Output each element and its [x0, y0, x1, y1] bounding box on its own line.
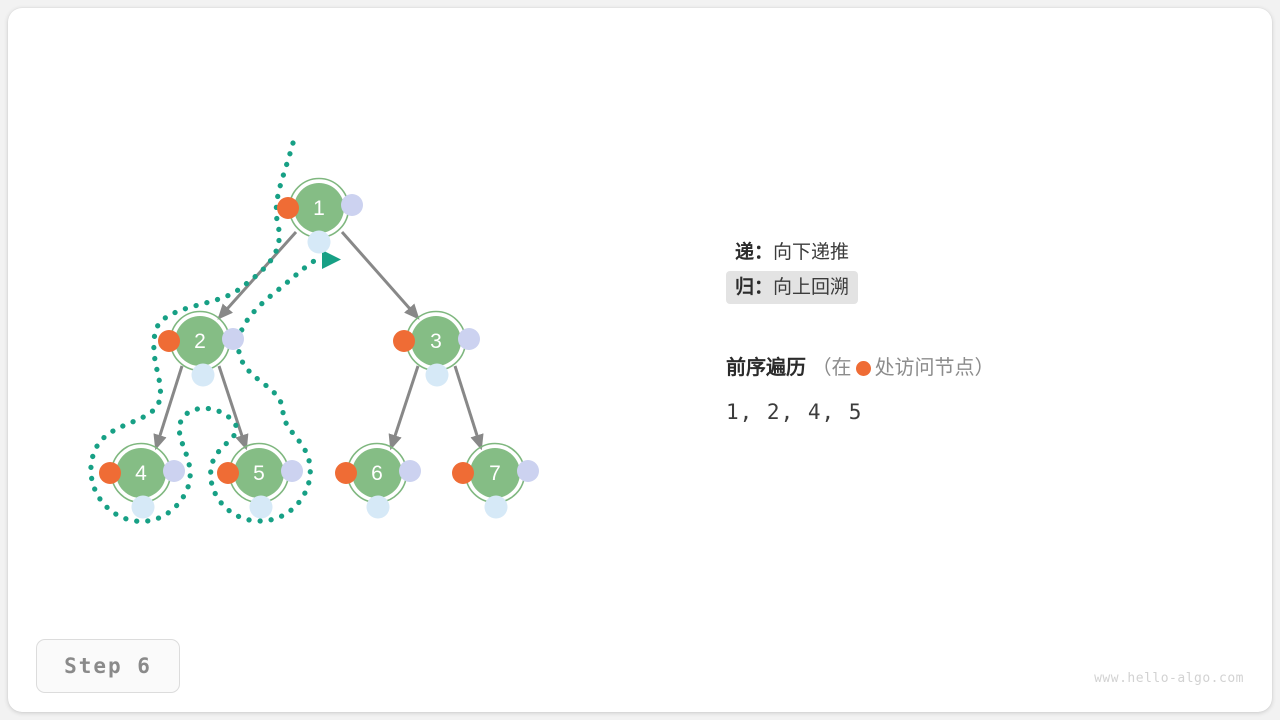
traversal-block: 前序遍历 （在处访问节点） 1, 2, 4, 5	[726, 358, 1246, 424]
node-label: 3	[430, 330, 442, 353]
legend-item-return: 归：向上回溯	[726, 271, 858, 304]
step-badge: Step 6	[36, 639, 180, 693]
legend-item-recurse-text: 向下递推	[773, 242, 849, 263]
visit-dot	[217, 462, 239, 484]
triangle-right-icon	[322, 250, 341, 269]
step-badge-label: Step 6	[64, 654, 152, 678]
legend-item-return-text: 向上回溯	[773, 277, 849, 298]
bottom-dot	[485, 496, 508, 519]
tree-node-7[interactable]: 7	[452, 444, 539, 519]
legend-item-recurse: 递：向下递推	[726, 236, 858, 269]
tree-node-6[interactable]: 6	[335, 444, 421, 519]
traversal-title: 前序遍历 （在处访问节点）	[726, 358, 1246, 378]
screenshot-stage: 1 2 3 4	[0, 0, 1280, 720]
legend-item-return-keyword: 归：	[735, 277, 773, 298]
traversal-title-strong: 前序遍历	[726, 357, 806, 379]
right-dot	[458, 328, 480, 350]
bottom-dot	[426, 364, 449, 387]
node-label: 5	[253, 462, 265, 485]
right-dot	[341, 194, 363, 216]
right-dot	[281, 460, 303, 482]
tree-node-2[interactable]: 2	[158, 312, 244, 387]
bottom-dot	[250, 496, 273, 519]
footer-url: www.hello-algo.com	[1094, 671, 1244, 686]
traversal-title-suffix: 处访问节点）	[875, 357, 995, 379]
visit-dot-icon	[856, 361, 871, 376]
traversal-title-prefix: （在	[812, 357, 852, 379]
visit-dot	[393, 330, 415, 352]
node-label: 6	[371, 462, 383, 485]
bottom-dot	[192, 364, 215, 387]
edge-1-2	[219, 232, 296, 318]
right-dot	[517, 460, 539, 482]
bottom-dot	[367, 496, 390, 519]
visit-dot	[335, 462, 357, 484]
edge-3-6	[391, 366, 418, 448]
traversal-values: 1, 2, 4, 5	[726, 400, 1246, 424]
visit-dot	[277, 197, 299, 219]
edge-1-3	[342, 232, 418, 318]
legend-item-recurse-keyword: 递：	[735, 242, 773, 263]
node-label: 7	[489, 462, 501, 485]
visit-dot	[99, 462, 121, 484]
cursor-marker	[322, 250, 341, 269]
tree-node-3[interactable]: 3	[393, 312, 480, 387]
tree-node-4[interactable]: 4	[99, 444, 185, 519]
node-label: 2	[194, 330, 206, 353]
legend-panel: 递：向下递推 归：向上回溯	[726, 236, 1196, 306]
visit-dot	[158, 330, 180, 352]
edge-3-7	[455, 366, 481, 448]
node-label: 1	[313, 197, 325, 220]
node-label: 4	[135, 462, 147, 485]
tree-node-5[interactable]: 5	[217, 444, 303, 519]
bottom-dot	[132, 496, 155, 519]
visit-dot	[452, 462, 474, 484]
right-dot	[222, 328, 244, 350]
right-dot	[163, 460, 185, 482]
bottom-dot	[308, 231, 331, 254]
right-dot	[399, 460, 421, 482]
